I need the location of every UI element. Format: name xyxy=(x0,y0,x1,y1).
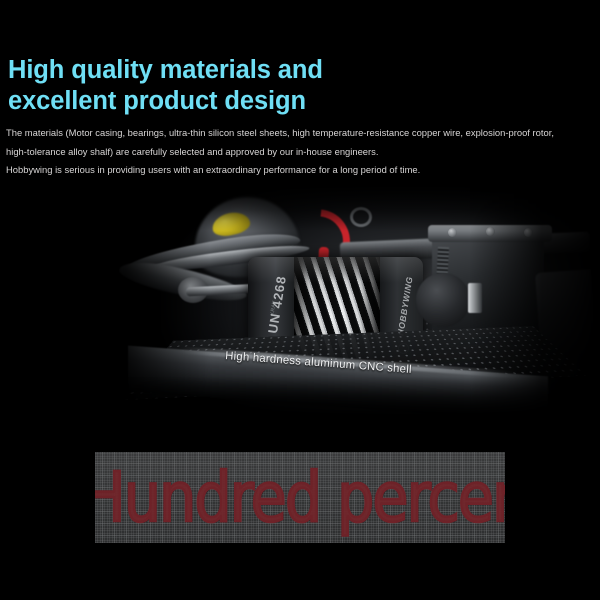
page-title: High quality materials and excellent pro… xyxy=(8,55,438,117)
pulley xyxy=(416,273,470,327)
product-photo: UN 4268 XRAY HOBBYWING xyxy=(0,185,600,417)
banner-text-wrapper: Hundred percent xyxy=(95,467,505,528)
banner-text: Hundred percent xyxy=(95,463,505,531)
description-paragraph: The materials (Motor casing, bearings, u… xyxy=(6,124,596,180)
description-line-3: Hobbywing is serious in providing users … xyxy=(6,161,596,180)
photo-vignette-bottom xyxy=(0,377,600,417)
hundred-percent-banner: Hundred percent xyxy=(95,452,505,543)
motor-gloss-highlight xyxy=(248,257,423,283)
description-line-2: high-tolerance alloy shalf) are carefull… xyxy=(6,143,596,162)
description-line-1: The materials (Motor casing, bearings, u… xyxy=(6,124,596,143)
